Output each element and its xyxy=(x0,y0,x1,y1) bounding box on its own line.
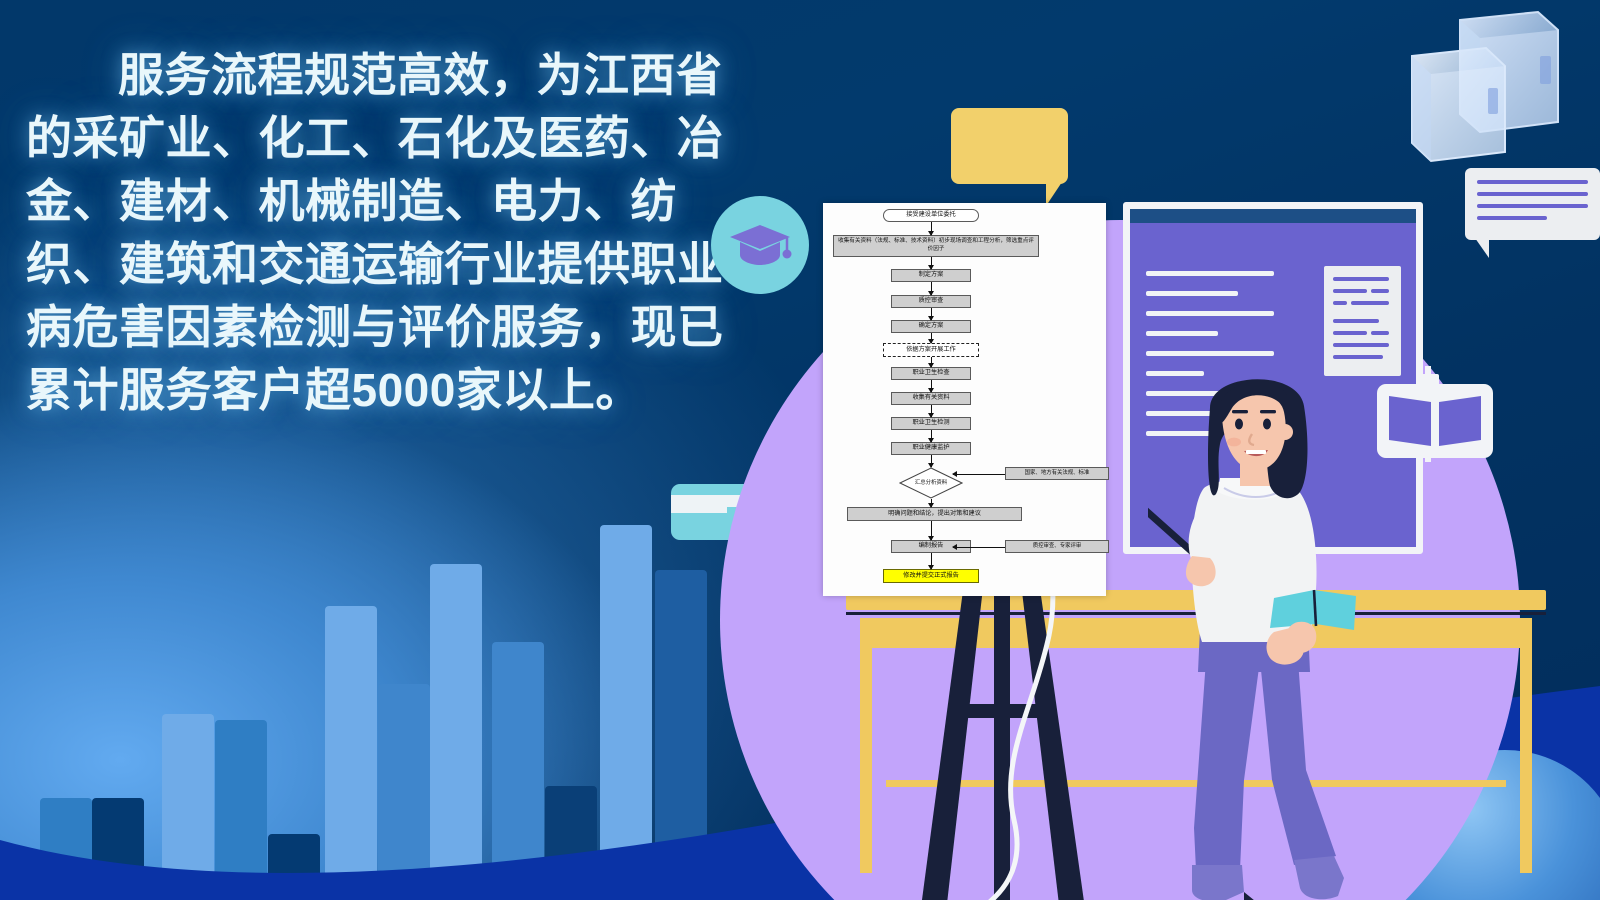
flow-arrow-n13-n14 xyxy=(931,553,932,569)
flow-arrow-n5-n6 xyxy=(931,333,932,343)
flow-node-n12: 明确问题和结论，提出对策和建议 xyxy=(847,507,1022,521)
flow-node-n4: 质控审查 xyxy=(891,295,971,308)
flow-node-n5: 确定方案 xyxy=(891,320,971,333)
flow-arrow-n12-n13 xyxy=(931,521,932,540)
flow-arrow-n3-n4 xyxy=(931,282,932,295)
desk-leg-right xyxy=(1520,648,1532,873)
flow-arrow-n4-n5 xyxy=(931,308,932,320)
flow-node-n3: 制定方案 xyxy=(891,269,971,282)
flow-node-n9: 职业卫生检测 xyxy=(891,417,971,430)
page-title: 服务流程规范高效，为江西省的采矿业、化工、石化及医药、冶金、建材、机械制造、电力… xyxy=(26,44,766,422)
service-flowchart-panel: 接受建设单位委托收集有关资料（法规、标准、技术资料）初步现场调查和工程分析，筛选… xyxy=(823,203,1106,596)
flow-arrow-n9-n10 xyxy=(931,430,932,442)
flow-node-n6: 依据方案开展工作 xyxy=(883,343,979,357)
flow-node-n1: 接受建设单位委托 xyxy=(883,209,979,222)
open-book-sign-icon xyxy=(1375,366,1495,462)
flow-node-n10: 职业健康监护 xyxy=(891,442,971,455)
poster-canvas: 服务流程规范高效，为江西省的采矿业、化工、石化及医药、冶金、建材、机械制造、电力… xyxy=(0,0,1600,900)
flow-arrow-n1-n2 xyxy=(931,222,932,235)
flow-node-n7: 职业卫生检查 xyxy=(891,367,971,380)
flow-arrow-n11-n12 xyxy=(931,499,932,507)
flow-side-node-s2: 质控审查、专家评审 xyxy=(1005,540,1109,553)
flow-arrow-n10-n11 xyxy=(931,455,932,467)
board-top-bar xyxy=(1130,209,1416,223)
flow-arrow-n7-n8 xyxy=(931,380,932,392)
flow-node-n14: 修改并提交正式报告 xyxy=(883,569,979,583)
flow-arrow-n2-n3 xyxy=(931,257,932,269)
flow-side-arrow-s2 xyxy=(953,547,1005,548)
flow-side-arrow-s1 xyxy=(953,474,1005,475)
flow-arrow-n8-n9 xyxy=(931,405,932,417)
flow-arrow-n6-n7 xyxy=(931,357,932,367)
woman-teacher-figure xyxy=(1148,360,1378,900)
desk-leg-left xyxy=(860,648,872,873)
flow-node-n8: 收集有关资料 xyxy=(891,392,971,405)
flow-node-n2: 收集有关资料（法规、标准、技术资料）初步现场调查和工程分析，筛选重点评价因子 xyxy=(833,235,1039,257)
flow-side-node-s1: 国家、地方有关法规、标准 xyxy=(1005,467,1109,480)
